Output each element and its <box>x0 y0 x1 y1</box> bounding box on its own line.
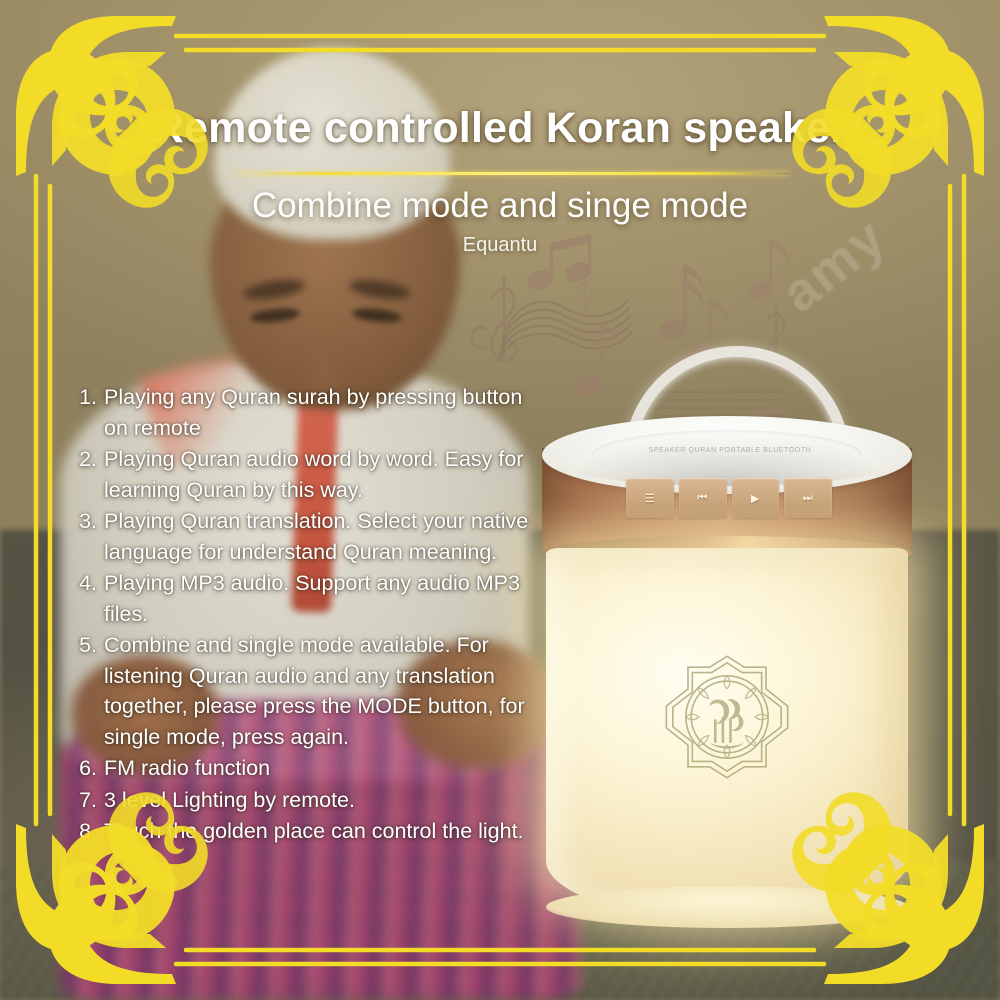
brand-name: Equantu <box>0 234 1000 257</box>
list-item: 1. Playing any Quran surah by pressing b… <box>74 382 536 443</box>
play-pause-button[interactable]: ▶ <box>732 478 780 518</box>
list-item-text: Touch the golden place can control the l… <box>104 816 536 847</box>
quran-speaker-lamp[interactable]: SPEAKER QURAN PORTABLE BLUETOOTH ☰ ⏮ ▶ ⏭ <box>520 330 930 950</box>
list-item-number: 6. <box>74 753 104 784</box>
product-poster: amy <box>0 0 1000 1000</box>
list-item: 3. Playing Quran translation. Select you… <box>74 506 536 567</box>
list-item-number: 5. <box>74 630 104 661</box>
feature-list: 1. Playing any Quran surah by pressing b… <box>74 382 536 848</box>
title-divider <box>232 172 790 175</box>
list-item: 2. Playing Quran audio word by word. Eas… <box>74 444 536 505</box>
list-item: 7. 3 level Lighting by remote. <box>74 785 536 816</box>
previous-track-button[interactable]: ⏮ <box>679 478 727 518</box>
list-item-text: Playing MP3 audio. Support any audio MP3… <box>104 568 536 629</box>
list-item-number: 2. <box>74 444 104 475</box>
list-item-text: Combine and single mode available. For l… <box>104 630 536 752</box>
list-item: 4. Playing MP3 audio. Support any audio … <box>74 568 536 629</box>
list-item-number: 1. <box>74 382 104 413</box>
list-item-text: Playing Quran translation. Select your n… <box>104 506 536 567</box>
speaker-button-row[interactable]: ☰ ⏮ ▶ ⏭ <box>626 478 832 518</box>
list-item-number: 8. <box>74 816 104 847</box>
list-item-text: 3 level Lighting by remote. <box>104 785 536 816</box>
list-item-number: 4. <box>74 568 104 599</box>
list-item: 6. FM radio function <box>74 753 536 784</box>
quran-medallion-emblem <box>662 652 792 782</box>
page-title: Remote controlled Koran speaker <box>0 104 1000 153</box>
speaker-band-top-shadow <box>542 426 912 486</box>
next-track-button[interactable]: ⏭ <box>784 478 832 518</box>
list-item-text: Playing Quran audio word by word. Easy f… <box>104 444 536 505</box>
list-item-text: Playing any Quran surah by pressing butt… <box>104 382 536 443</box>
list-item-number: 3. <box>74 506 104 537</box>
page-subtitle: Combine mode and singe mode <box>0 186 1000 226</box>
list-item-number: 7. <box>74 785 104 816</box>
list-item: 5. Combine and single mode available. Fo… <box>74 630 536 752</box>
speaker-lamp-base <box>546 886 908 928</box>
list-item-text: FM radio function <box>104 753 536 784</box>
mode-button[interactable]: ☰ <box>626 478 674 518</box>
list-item: 8. Touch the golden place can control th… <box>74 816 536 847</box>
